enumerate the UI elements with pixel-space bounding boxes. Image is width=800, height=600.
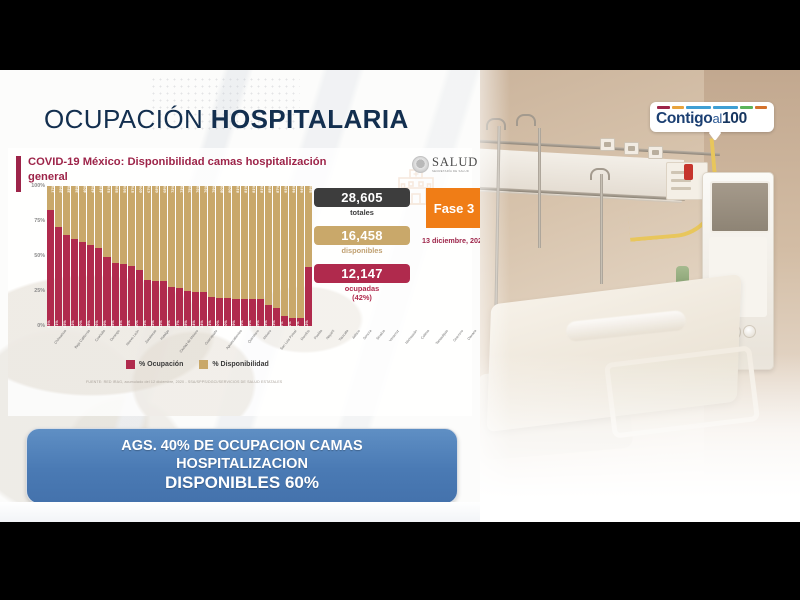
bar-segment-disponibilidad: 44%	[95, 186, 102, 248]
logo-dash-5	[755, 106, 768, 109]
table-row: 58%42%	[305, 186, 312, 326]
bar-label-disponibilidad: 81%	[260, 185, 264, 193]
salud-logo: SALUD SECRETARÍA DE SALUD	[412, 156, 480, 173]
bar-label-disponibilidad: 81%	[236, 185, 240, 193]
callout-ocupadas-value: 12,147	[314, 264, 410, 283]
salud-subtext: SECRETARÍA DE SALUD	[432, 169, 478, 173]
bar-segment-disponibilidad: 40%	[79, 186, 86, 242]
legend-label-1: % Disponibilidad	[212, 361, 268, 368]
logo-dash-0	[657, 106, 670, 109]
logo-dash-2	[686, 106, 711, 109]
bar-segment-ocupacion: 19%	[241, 299, 248, 326]
logo-text: Contigoal100	[656, 111, 768, 127]
bar-segment-ocupacion: 19%	[232, 299, 239, 326]
bar-segment-disponibilidad: 42%	[87, 186, 94, 245]
iv-pole-second	[538, 128, 541, 248]
table-row: 42%58%	[87, 186, 94, 326]
chart-legend: % Ocupación% Disponibilidad	[126, 360, 269, 369]
chart-card: COVID-19 México: Disponibilidad camas ho…	[8, 148, 472, 416]
logo-middle: al	[712, 111, 722, 126]
chart-callouts: 28,605 totales 16,458 disponibles 12,147…	[314, 188, 410, 311]
bar-label-disponibilidad: 81%	[244, 185, 248, 193]
bar-segment-ocupacion: 28%	[168, 287, 175, 326]
bar-segment-ocupacion: 13%	[273, 308, 280, 326]
bar-label-disponibilidad: 44%	[99, 185, 103, 193]
bar-segment-disponibilidad: 94%	[297, 186, 304, 318]
bar-segment-disponibilidad: 68%	[152, 186, 159, 281]
hospital-room-photo: Contigoal100	[480, 70, 800, 522]
table-row: 29%71%	[55, 186, 62, 326]
bar-label-disponibilidad: 29%	[59, 185, 63, 193]
screen: OCUPACIÓN HOSPITALARIA	[0, 0, 800, 600]
title-light: OCUPACIÓN	[44, 104, 203, 134]
bar-segment-disponibilidad: 81%	[249, 186, 256, 299]
bar-label-disponibilidad: 35%	[67, 185, 71, 193]
table-row: 75%25%	[184, 186, 191, 326]
bar-segment-disponibilidad: 35%	[63, 186, 70, 235]
bar-segment-disponibilidad: 56%	[120, 186, 127, 264]
bar-segment-ocupacion: 83%	[47, 210, 54, 326]
table-row: 35%65%	[63, 186, 70, 326]
bar-segment-disponibilidad: 80%	[216, 186, 223, 298]
video-frame: OCUPACIÓN HOSPITALARIA	[0, 70, 800, 522]
callout-disponibles-value: 16,458	[314, 226, 410, 245]
contigo-al-100-logo: Contigoal100	[650, 102, 774, 132]
bar-label-ocupacion: 6%	[296, 321, 300, 326]
bar-segment-ocupacion: 24%	[192, 292, 199, 326]
callout-ocupadas-line2: (42%)	[352, 293, 372, 302]
bar-segment-disponibilidad: 81%	[232, 186, 239, 299]
bar-label-disponibilidad: 68%	[155, 185, 159, 193]
legend-swatch-1	[199, 360, 208, 369]
table-row: 76%24%	[200, 186, 207, 326]
bar-label-disponibilidad: 76%	[204, 185, 208, 193]
table-row: 57%43%	[128, 186, 135, 326]
banner-text: AGS. 40% DE OCUPACION CAMAS HOSPITALIZAC…	[121, 438, 362, 494]
legend-item-0: % Ocupación	[126, 360, 183, 369]
bar-segment-disponibilidad: 67%	[144, 186, 151, 280]
bar-segment-disponibilidad: 87%	[273, 186, 280, 308]
bar-segment-disponibilidad: 76%	[200, 186, 207, 292]
bar-segment-ocupacion: 33%	[144, 280, 151, 326]
legend-swatch-0	[126, 360, 135, 369]
chart-source: FUENTE: RED IRAG, acumulado del 12 dicie…	[86, 380, 456, 384]
bar-segment-ocupacion: 27%	[176, 288, 183, 326]
y-tick-2: 50%	[34, 253, 45, 259]
callout-ocupadas-label: ocupadas (42%)	[314, 285, 410, 303]
iv-hook-2	[516, 114, 536, 126]
bar-segment-disponibilidad: 60%	[136, 186, 143, 270]
table-row: 81%19%	[241, 186, 248, 326]
y-tick-4: 100%	[31, 183, 45, 189]
table-row: 60%40%	[136, 186, 143, 326]
government-seal-icon	[412, 156, 429, 173]
callout-total-value: 28,605	[314, 188, 410, 207]
salud-wordmark: SALUD	[432, 156, 478, 169]
bar-segment-ocupacion: 6%	[297, 318, 304, 326]
banner-line-1: AGS. 40% DE OCUPACION CAMAS	[121, 438, 362, 456]
bar-segment-ocupacion: 58%	[87, 245, 94, 326]
banner-line-3: DISPONIBLES 60%	[121, 473, 362, 494]
table-row: 80%20%	[216, 186, 223, 326]
bar-segment-ocupacion: 32%	[152, 281, 159, 326]
bar-label-ocupacion: 6%	[288, 321, 292, 326]
bar-label-disponibilidad: 93%	[284, 185, 288, 193]
table-row: 38%62%	[71, 186, 78, 326]
table-row: 85%15%	[265, 186, 272, 326]
lower-third-banner: AGS. 40% DE OCUPACION CAMAS HOSPITALIZAC…	[26, 428, 458, 504]
bar-label-disponibilidad: 85%	[268, 185, 272, 193]
bar-segment-disponibilidad: 68%	[160, 186, 167, 281]
table-row: 17%83%	[47, 186, 54, 326]
bar-segment-ocupacion: 32%	[160, 281, 167, 326]
bar-label-disponibilidad: 58%	[309, 185, 313, 193]
bar-segment-ocupacion: 62%	[71, 239, 78, 326]
bar-segment-disponibilidad: 51%	[103, 186, 110, 257]
bar-segment-ocupacion: 15%	[265, 305, 272, 326]
callout-ocupadas-line1: ocupadas	[345, 284, 380, 293]
table-row: 76%24%	[192, 186, 199, 326]
bar-label-disponibilidad: 80%	[228, 185, 232, 193]
banner-line-2: HOSPITALIZACION	[121, 456, 362, 474]
red-valve-icon	[684, 164, 693, 180]
bar-segment-disponibilidad: 75%	[184, 186, 191, 291]
bar-segment-ocupacion: 24%	[200, 292, 207, 326]
bar-segment-ocupacion: 56%	[95, 248, 102, 326]
bar-label-disponibilidad: 55%	[115, 185, 119, 193]
bar-segment-ocupacion: 71%	[55, 227, 62, 326]
plot-area: 17%83%29%71%35%65%38%62%40%60%42%58%44%5…	[47, 186, 312, 326]
bar-segment-disponibilidad: 58%	[305, 186, 312, 267]
bar-segment-ocupacion: 65%	[63, 235, 70, 326]
photo-bottom-fade	[480, 354, 800, 522]
table-row: 73%27%	[176, 186, 183, 326]
bar-segment-ocupacion: 20%	[216, 298, 223, 326]
logo-number: 100	[722, 110, 747, 127]
table-row: 40%60%	[79, 186, 86, 326]
bar-label-disponibilidad: 73%	[180, 185, 184, 193]
bar-segment-ocupacion: 7%	[281, 316, 288, 326]
bar-segment-ocupacion: 19%	[257, 299, 264, 326]
bar-label-disponibilidad: 72%	[171, 185, 175, 193]
fase-badge: Fase 3	[426, 188, 480, 228]
bar-label-disponibilidad: 75%	[188, 185, 192, 193]
bar-segment-disponibilidad: 79%	[208, 186, 215, 297]
page-title: OCUPACIÓN HOSPITALARIA	[44, 104, 409, 135]
bar-label-disponibilidad: 42%	[91, 185, 95, 193]
iv-pole-third	[600, 174, 603, 284]
table-row: 81%19%	[257, 186, 264, 326]
y-tick-1: 25%	[34, 288, 45, 294]
bar-segment-disponibilidad: 72%	[168, 186, 175, 287]
bar-label-disponibilidad: 94%	[292, 185, 296, 193]
logo-dash-4	[740, 106, 753, 109]
bar-segment-ocupacion: 25%	[184, 291, 191, 326]
ventilator-screen	[710, 181, 770, 233]
table-row: 94%6%	[289, 186, 296, 326]
bar-label-disponibilidad: 87%	[276, 185, 280, 193]
bar-segment-disponibilidad: 80%	[224, 186, 231, 298]
bar-label-disponibilidad: 40%	[83, 185, 87, 193]
bar-segment-disponibilidad: 55%	[112, 186, 119, 263]
slide-footer-strip	[0, 502, 480, 522]
bar-segment-disponibilidad: 85%	[265, 186, 272, 305]
bar-label-disponibilidad: 51%	[107, 185, 111, 193]
bar-label-disponibilidad: 67%	[147, 185, 151, 193]
stacked-bar-chart: 0%25%50%75%100% 17%83%29%71%35%65%38%62%…	[22, 186, 312, 346]
title-bold: HOSPITALARIA	[211, 104, 409, 134]
bar-label-disponibilidad: 94%	[300, 185, 304, 193]
bar-label-disponibilidad: 56%	[123, 185, 127, 193]
y-axis: 0%25%50%75%100%	[22, 186, 46, 326]
table-row: 44%56%	[95, 186, 102, 326]
table-row: 55%45%	[112, 186, 119, 326]
bar-segment-disponibilidad: 38%	[71, 186, 78, 239]
bar-label-disponibilidad: 57%	[131, 185, 135, 193]
bar-label-disponibilidad: 76%	[196, 185, 200, 193]
table-row: 81%19%	[232, 186, 239, 326]
bar-segment-ocupacion: 45%	[112, 263, 119, 326]
table-row: 56%44%	[120, 186, 127, 326]
bar-segment-ocupacion: 6%	[289, 318, 296, 326]
table-row: 68%32%	[152, 186, 159, 326]
bar-label-disponibilidad: 80%	[220, 185, 224, 193]
chart-title: COVID-19 México: Disponibilidad camas ho…	[28, 155, 358, 185]
bar-label-disponibilidad: 79%	[212, 185, 216, 193]
bar-label-ocupacion: 7%	[280, 321, 284, 326]
legend-label-0: % Ocupación	[139, 361, 183, 368]
bar-segment-ocupacion: 40%	[136, 270, 143, 326]
x-axis-labels: ChihuahuaBaja CaliforniaCoahuilaDurangoN…	[47, 327, 312, 361]
bar-segment-disponibilidad: 29%	[55, 186, 62, 227]
table-row: 68%32%	[160, 186, 167, 326]
bar-label-disponibilidad: 81%	[252, 185, 256, 193]
logo-dashes	[656, 106, 768, 109]
bar-segment-disponibilidad: 81%	[241, 186, 248, 299]
bar-label-disponibilidad: 38%	[75, 185, 79, 193]
bar-segment-disponibilidad: 76%	[192, 186, 199, 292]
logo-dash-1	[672, 106, 685, 109]
bar-label-disponibilidad: 60%	[139, 185, 143, 193]
bar-segment-ocupacion: 19%	[249, 299, 256, 326]
y-tick-0: 0%	[37, 323, 45, 329]
bar-segment-disponibilidad: 81%	[257, 186, 264, 299]
legend-item-1: % Disponibilidad	[199, 360, 268, 369]
callout-total-label: totales	[314, 209, 410, 218]
table-row: 80%20%	[224, 186, 231, 326]
bar-segment-ocupacion: 44%	[120, 264, 127, 326]
table-row: 67%33%	[144, 186, 151, 326]
bar-segment-ocupacion: 42%	[305, 267, 312, 326]
bar-segment-disponibilidad: 94%	[289, 186, 296, 318]
callout-disponibles-label: disponibles	[314, 247, 410, 256]
table-row: 93%7%	[281, 186, 288, 326]
bar-segment-disponibilidad: 57%	[128, 186, 135, 266]
y-tick-3: 75%	[34, 218, 45, 224]
bar-segment-ocupacion: 21%	[208, 297, 215, 326]
bar-segment-ocupacion: 60%	[79, 242, 86, 326]
logo-dash-3	[713, 106, 738, 109]
wall-outlet-1	[600, 138, 615, 151]
bar-segment-ocupacion: 49%	[103, 257, 110, 326]
table-row: 81%19%	[249, 186, 256, 326]
bar-label-disponibilidad: 17%	[51, 185, 55, 193]
table-row: 94%6%	[297, 186, 304, 326]
bar-segment-disponibilidad: 17%	[47, 186, 54, 210]
bar-label-disponibilidad: 68%	[163, 185, 167, 193]
bar-segment-disponibilidad: 73%	[176, 186, 183, 288]
table-row: 72%28%	[168, 186, 175, 326]
bar-segment-disponibilidad: 93%	[281, 186, 288, 316]
table-row: 87%13%	[273, 186, 280, 326]
iv-hook-3	[590, 168, 610, 180]
bar-segment-ocupacion: 43%	[128, 266, 135, 326]
table-row: 79%21%	[208, 186, 215, 326]
accent-bar	[16, 156, 21, 192]
fase-date: 13 diciembre, 2020	[418, 236, 480, 245]
presentation-slide: OCUPACIÓN HOSPITALARIA	[0, 70, 480, 522]
bar-segment-ocupacion: 20%	[224, 298, 231, 326]
table-row: 51%49%	[103, 186, 110, 326]
logo-prefix: Contigo	[656, 110, 712, 127]
